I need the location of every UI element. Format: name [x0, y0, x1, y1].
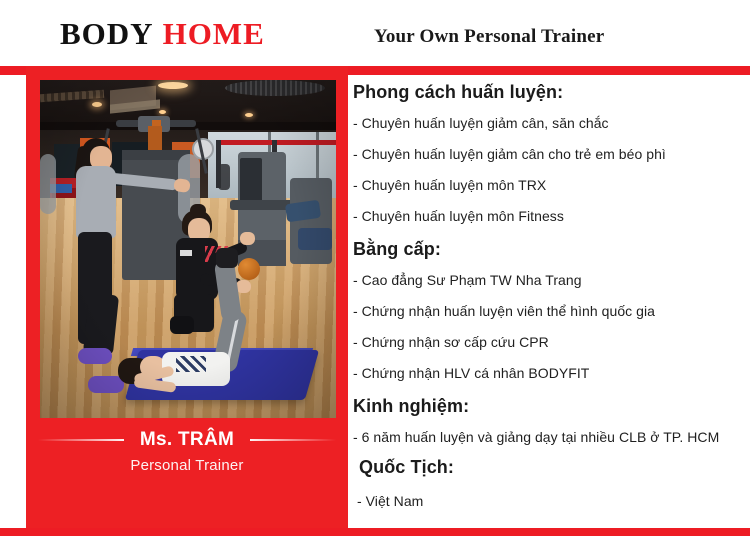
trainer-role: Personal Trainer	[26, 456, 348, 476]
photo-vignette	[40, 80, 336, 418]
trainer-profile-card: BODYHOME Your Own Personal Trainer	[0, 0, 750, 536]
section-title-experience: Kinh nghiệm:	[353, 395, 469, 417]
section-title-qualifications: Bằng cấp:	[353, 238, 441, 260]
list-item: - Chuyên huấn luyện môn Fitness	[353, 207, 564, 225]
section-title-training-style: Phong cách huấn luyện:	[353, 81, 563, 103]
trainer-photo	[40, 80, 336, 418]
section-title-nationality: Quốc Tịch:	[359, 456, 454, 478]
trainer-name-block: Ms. TRÂM Personal Trainer	[26, 426, 348, 496]
page-header: BODYHOME Your Own Personal Trainer	[0, 0, 750, 66]
list-item: - Việt Nam	[357, 492, 423, 510]
list-item: - Chứng nhận HLV cá nhân BODYFIT	[353, 364, 589, 382]
brand-logo: BODYHOME	[60, 17, 265, 51]
trainer-name: Ms. TRÂM	[26, 426, 348, 454]
brand-word-home: HOME	[163, 16, 265, 51]
list-item: - Chuyên huấn luyện giảm cân cho trẻ em …	[353, 145, 666, 163]
list-item: - Chứng nhận sơ cấp cứu CPR	[353, 333, 549, 351]
bottom-red-rule	[0, 528, 750, 536]
trainer-name-row: Ms. TRÂM	[26, 426, 348, 454]
trainer-details: Phong cách huấn luyện: - Chuyên huấn luy…	[353, 75, 750, 528]
list-item: - Chứng nhận huấn luyện viên thể hình qu…	[353, 302, 655, 320]
list-item: - Chuyên huấn luyện giảm cân, săn chắc	[353, 114, 609, 132]
list-item: - 6 năm huấn luyện và giảng dạy tại nhiề…	[353, 428, 719, 446]
list-item: - Cao đẳng Sư Phạm TW Nha Trang	[353, 271, 582, 289]
brand-word-body: BODY	[60, 16, 154, 51]
list-item: - Chuyên huấn luyện môn TRX	[353, 176, 546, 194]
brand-tagline: Your Own Personal Trainer	[374, 26, 604, 48]
